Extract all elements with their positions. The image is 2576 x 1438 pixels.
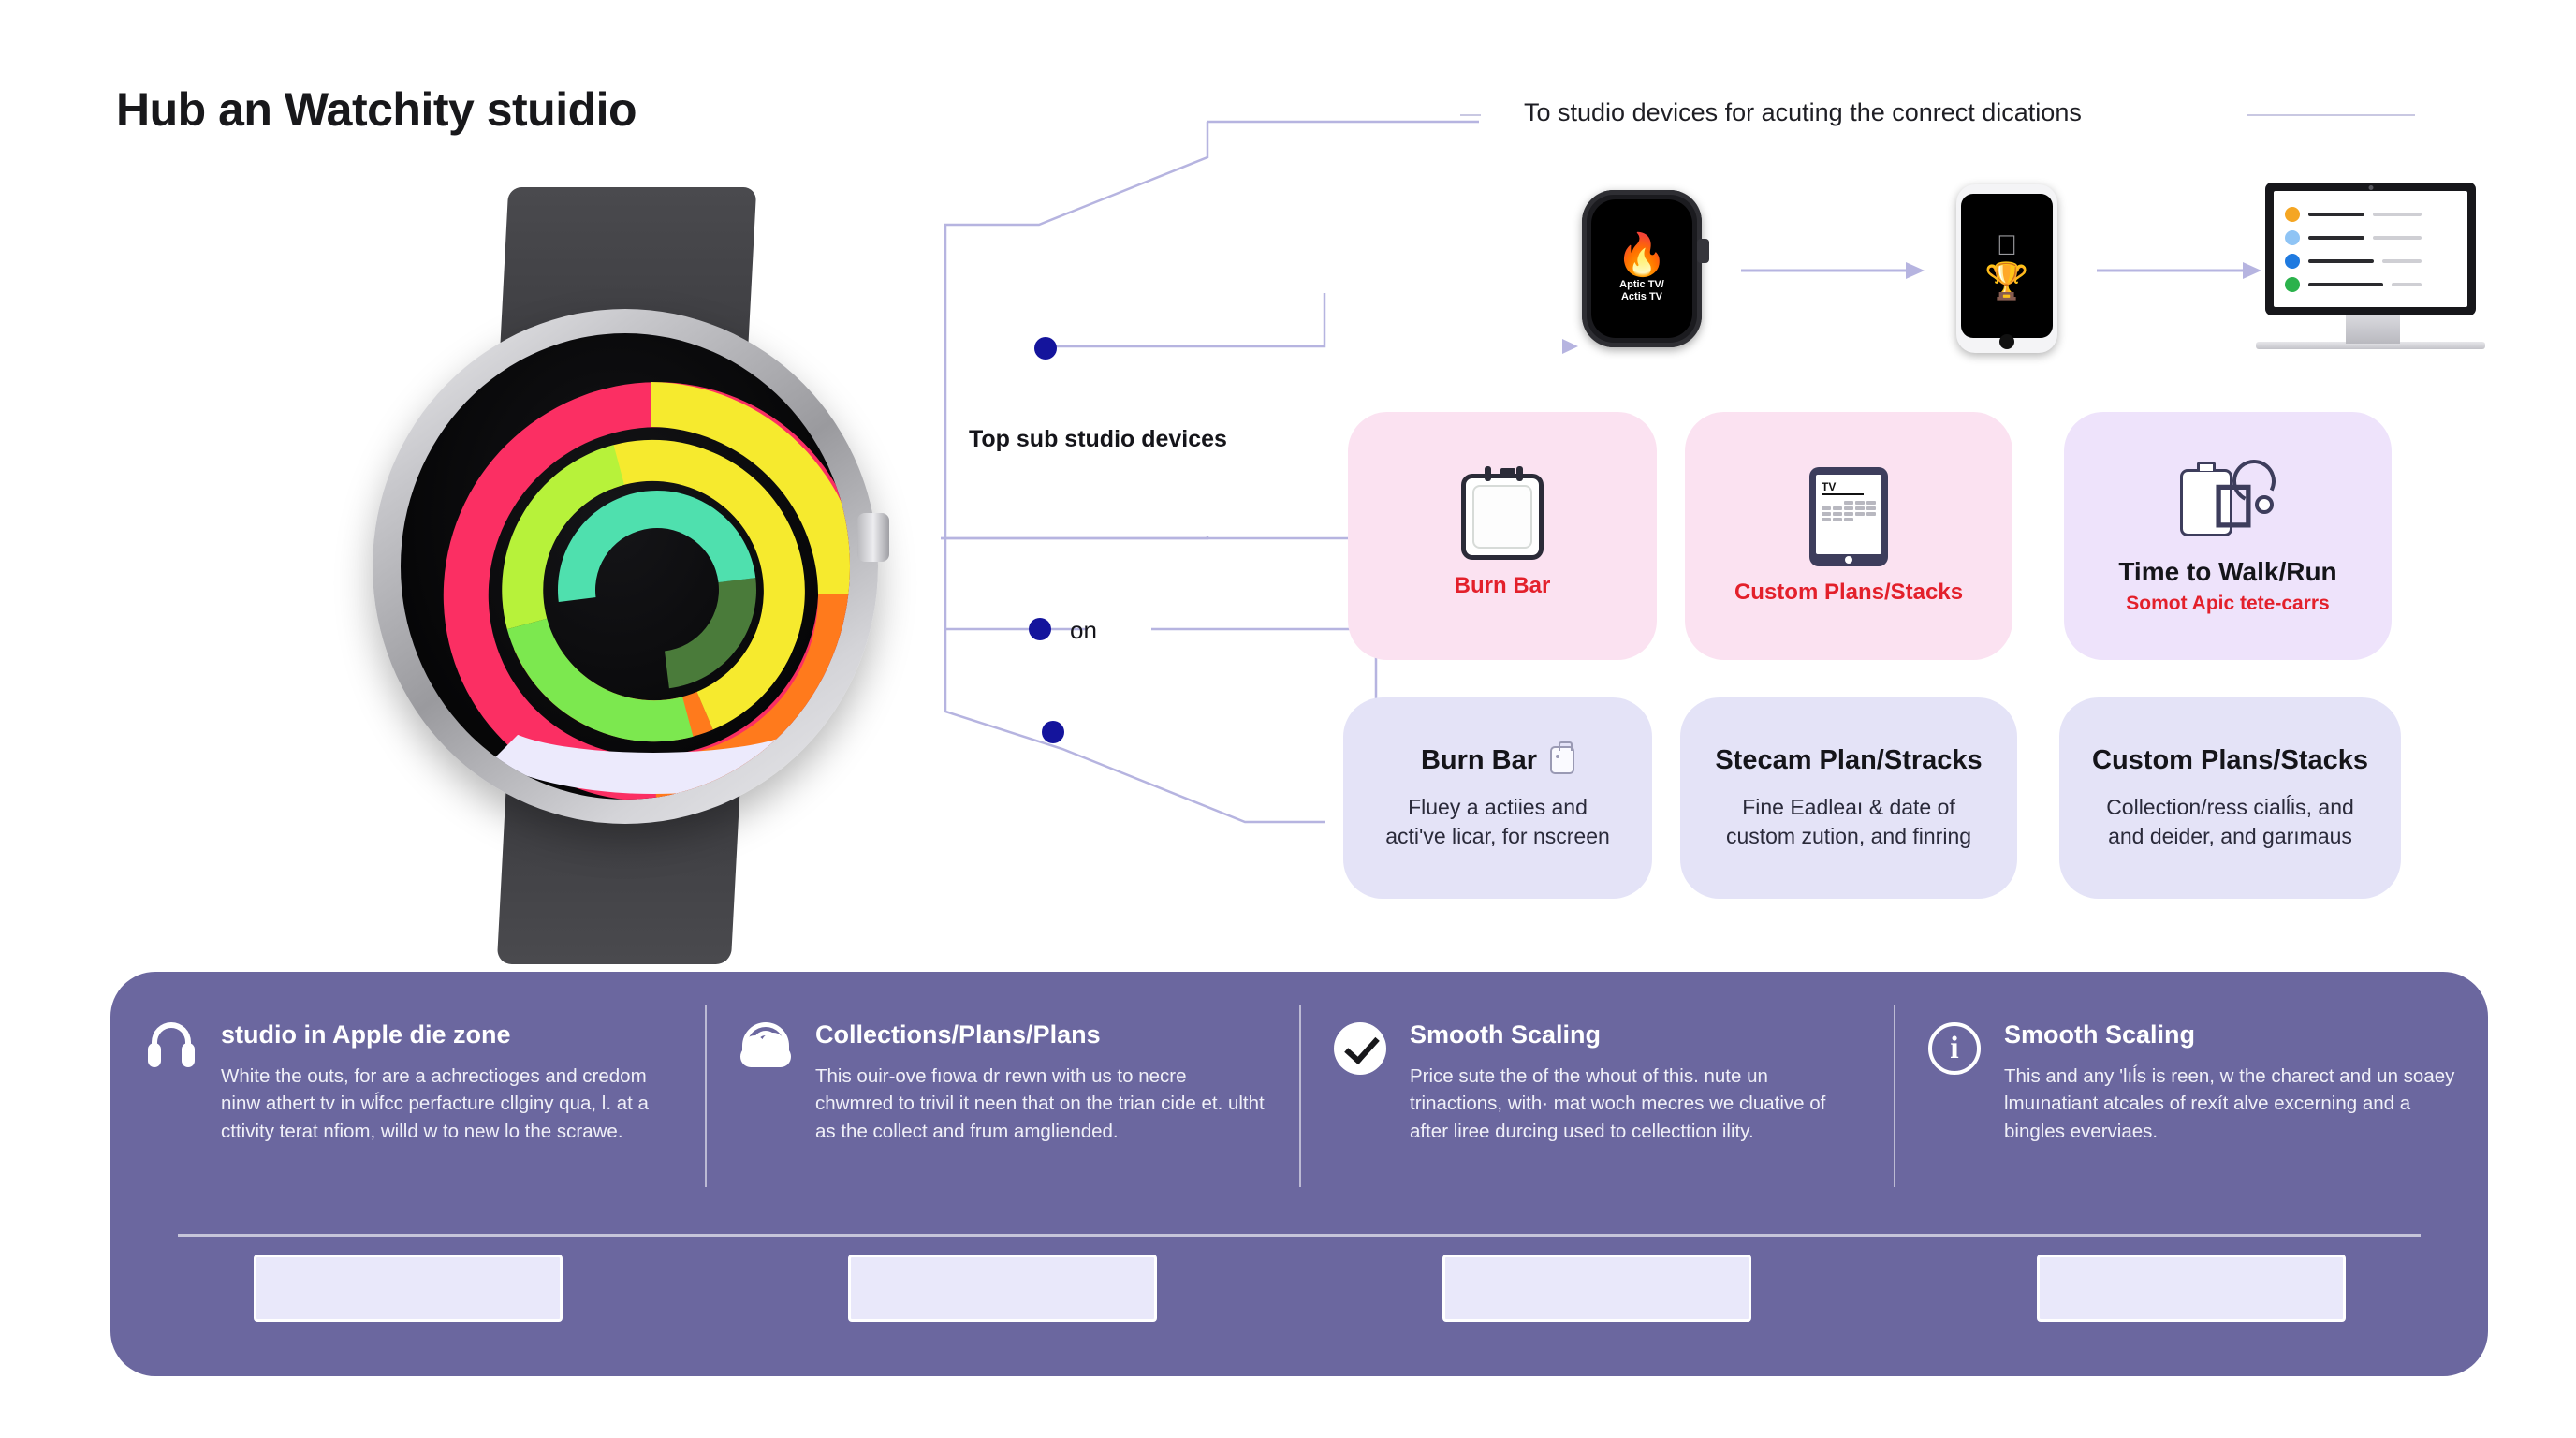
list-dot-icon: [2285, 254, 2300, 269]
monitor-frame: [2265, 183, 2476, 315]
info-circle-icon: i: [1925, 1020, 1983, 1075]
smartwatch-graphic: [363, 169, 897, 964]
device-watch[interactable]: 🔥 Aptic TV/ Actis TV: [1582, 190, 1702, 347]
feature-card-time-to-walk[interactable]:  Time to Walk/Run Somot Apic tete-carrs: [2064, 412, 2392, 660]
info-card-header: Custom Plans/Stacks: [2092, 745, 2368, 776]
notepad-icon: [1461, 474, 1544, 560]
bottom-column-text: studio in Apple die zone White the outs,…: [221, 1020, 673, 1145]
watch-crown-icon[interactable]: [857, 513, 889, 562]
bottom-column-body: White the outs, for are a achrectioges a…: [221, 1063, 673, 1145]
device-arrow-2: [2097, 259, 2265, 282]
device-phone-screen:  🏆: [1961, 194, 2053, 338]
device-watch-screen: 🔥 Aptic TV/ Actis TV: [1591, 199, 1692, 338]
field-wrap: [1299, 1255, 1894, 1348]
arrow-head-top: [1562, 339, 1578, 354]
watch-case: [373, 309, 878, 824]
list-line-primary: [2308, 283, 2383, 286]
bottom-column-title: Smooth Scaling: [1410, 1020, 1862, 1049]
list-line-primary: [2308, 213, 2364, 216]
bottom-column-title: Collections/Plans/Plans: [815, 1020, 1267, 1049]
feature-card-burn-bar[interactable]: Burn Bar: [1348, 412, 1657, 660]
flow-label-top: Top sub studio devices: [969, 426, 1227, 453]
info-card-title: Burn Bar: [1421, 745, 1537, 776]
info-card-body: Collection/ress cialĺis, and and deider,…: [2106, 793, 2354, 851]
bottom-column-body: This ouir-ove fıowa dr rewn with us to n…: [815, 1063, 1267, 1145]
info-card-body-line2: acti've licar, for nscreen: [1385, 822, 1610, 851]
tablet-calendar-icon: TV: [1809, 467, 1888, 566]
info-card-body-line1: Collection/ress cialĺis, and: [2106, 793, 2354, 822]
cloud-icon: [737, 1020, 795, 1067]
apple-logo-icon: : [1997, 232, 2018, 260]
flow-node-dot-2[interactable]: [1029, 618, 1051, 640]
device-watch-caption-line2: Actis TV: [1619, 291, 1664, 303]
device-row: 🔥 Aptic TV/ Actis TV  🏆: [1582, 183, 2406, 360]
device-monitor[interactable]: [2265, 183, 2481, 360]
tablet-label: TV: [1822, 481, 1876, 492]
list-line-secondary: [2382, 259, 2422, 263]
bottom-field-3[interactable]: [1442, 1255, 1751, 1322]
info-card-title: Custom Plans/Stacks: [2092, 745, 2368, 776]
feature-card-subtitle: Somot Apic tete-carrs: [2126, 593, 2329, 615]
bottom-column-smooth-scaling-info[interactable]: i Smooth Scaling This and any 'lıĺs is r…: [1894, 972, 2488, 1223]
list-item: [2285, 230, 2456, 245]
info-card-burn-bar[interactable]: Burn Bar Fluey a actiies and acti've lic…: [1343, 697, 1652, 899]
device-arrow-1: [1741, 259, 1928, 282]
bottom-column-smooth-scaling-check[interactable]: Smooth Scaling Price sute the of the who…: [1299, 972, 1894, 1223]
feature-card-title: Custom Plans/Stacks: [1734, 580, 1963, 606]
info-card-header: Stecam Plan/Stracks: [1715, 745, 1982, 776]
bottom-panel-fields: [110, 1255, 2488, 1348]
bottom-column-text: Collections/Plans/Plans This ouir-ove fı…: [815, 1020, 1267, 1145]
trophy-icon: 🏆: [1984, 264, 2028, 300]
apple-bag-icon: : [2176, 458, 2279, 544]
header-rule-left: [1460, 114, 1481, 116]
watch-screen: [401, 333, 850, 800]
info-card-body-line2: and deider, and garımaus: [2106, 822, 2354, 851]
monitor-camera-icon: [2368, 185, 2373, 190]
bottom-column-title: Smooth Scaling: [2004, 1020, 2456, 1049]
bottom-panel-divider: [178, 1234, 2421, 1237]
bottom-panel: studio in Apple die zone White the outs,…: [110, 972, 2488, 1376]
header-rule-right: [2247, 114, 2415, 116]
device-watch-caption-line1: Aptic TV/: [1619, 279, 1664, 291]
info-card-body-line1: Fine Eadleaı & date of: [1726, 793, 1971, 822]
header-note: To studio devices for acuting the conrec…: [1524, 98, 2082, 127]
info-card-header: Burn Bar: [1421, 745, 1574, 776]
info-card-stecam-plan[interactable]: Stecam Plan/Stracks Fine Eadleaı & date …: [1680, 697, 2017, 899]
list-line-secondary: [2373, 236, 2422, 240]
bottom-column-text: Smooth Scaling Price sute the of the who…: [1410, 1020, 1862, 1145]
bag-icon: [1550, 746, 1574, 774]
list-dot-icon: [2285, 207, 2300, 222]
info-card-title: Stecam Plan/Stracks: [1715, 745, 1982, 776]
field-wrap: [1894, 1255, 2488, 1348]
info-card-body-line1: Fluey a actiies and: [1385, 793, 1610, 822]
list-item: [2285, 277, 2456, 292]
bottom-column-body: Price sute the of the whout of this. nut…: [1410, 1063, 1862, 1145]
field-wrap: [110, 1255, 705, 1348]
list-dot-icon: [2285, 230, 2300, 245]
list-item: [2285, 207, 2456, 222]
device-phone-home-button-icon[interactable]: [1999, 334, 2014, 349]
check-circle-icon: [1331, 1020, 1389, 1075]
flow-node-dot-3[interactable]: [1042, 721, 1064, 743]
list-line-primary: [2308, 236, 2364, 240]
bottom-column-text: Smooth Scaling This and any 'lıĺs is ree…: [2004, 1020, 2456, 1145]
infographic-canvas: Hub an Watchity stuidio To studio device…: [0, 0, 2576, 1438]
flame-icon: 🔥: [1617, 235, 1668, 276]
feature-card-title: Time to Walk/Run: [2118, 557, 2336, 587]
bottom-panel-columns: studio in Apple die zone White the outs,…: [110, 972, 2488, 1223]
page-title: Hub an Watchity stuidio: [116, 82, 637, 137]
device-phone[interactable]:  🏆: [1956, 184, 2057, 353]
info-card-body: Fine Eadleaı & date of custom zution, an…: [1726, 793, 1971, 851]
monitor-screen: [2274, 191, 2467, 307]
field-wrap: [705, 1255, 1299, 1348]
bottom-column-title: studio in Apple die zone: [221, 1020, 673, 1049]
monitor-neck: [2346, 315, 2400, 344]
bottom-field-1[interactable]: [254, 1255, 563, 1322]
info-card-custom-plans[interactable]: Custom Plans/Stacks Collection/ress cial…: [2059, 697, 2401, 899]
device-watch-button-icon[interactable]: [1697, 239, 1709, 263]
feature-card-custom-plans[interactable]: TV Custom Plans/Stacks: [1685, 412, 2012, 660]
bottom-column-collections-plans[interactable]: Collections/Plans/Plans This ouir-ove fı…: [705, 972, 1299, 1223]
info-card-body-line2: custom zution, and finring: [1726, 822, 1971, 851]
bottom-column-body: This and any 'lıĺs is reen, w the charec…: [2004, 1063, 2456, 1145]
list-item: [2285, 254, 2456, 269]
device-watch-caption: Aptic TV/ Actis TV: [1619, 279, 1664, 302]
headphones-icon: [142, 1020, 200, 1067]
list-dot-icon: [2285, 277, 2300, 292]
list-line-secondary: [2392, 283, 2422, 286]
flow-node-dot-1[interactable]: [1034, 337, 1057, 359]
bottom-field-2[interactable]: [848, 1255, 1157, 1322]
bottom-column-studio-apple-zone[interactable]: studio in Apple die zone White the outs,…: [110, 972, 705, 1223]
flow-label-on: on: [1070, 616, 1097, 645]
activity-ring-base: [459, 644, 848, 794]
list-line-primary: [2308, 259, 2374, 263]
list-line-secondary: [2373, 213, 2422, 216]
info-card-body: Fluey a actiies and acti've licar, for n…: [1385, 793, 1610, 851]
bottom-field-4[interactable]: [2037, 1255, 2346, 1322]
feature-card-title: Burn Bar: [1455, 573, 1551, 599]
